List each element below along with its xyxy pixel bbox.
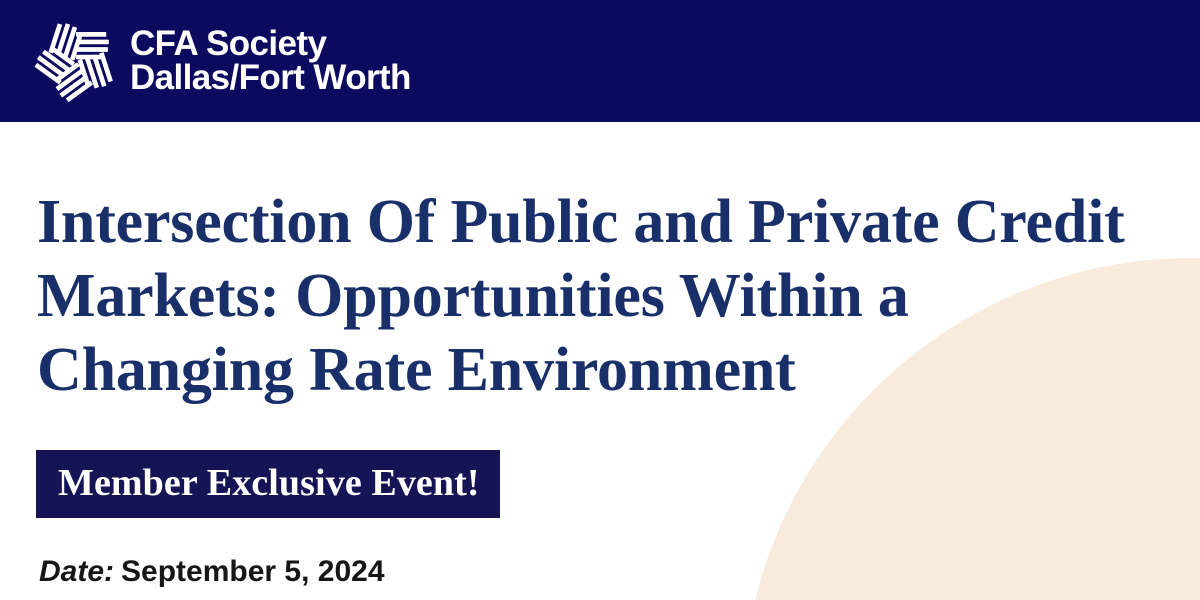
- header-band: CFA Society Dallas/Fort Worth: [0, 0, 1200, 122]
- cfa-pinwheel-icon: [34, 19, 118, 103]
- event-flyer: CFA Society Dallas/Fort Worth Intersecti…: [0, 0, 1200, 600]
- event-title: Intersection Of Public and Private Credi…: [37, 185, 1127, 407]
- organization-name: CFA Society Dallas/Fort Worth: [130, 27, 411, 95]
- member-exclusive-badge-label: Member Exclusive Event!: [58, 462, 480, 504]
- cfa-society-logo: CFA Society Dallas/Fort Worth: [34, 19, 411, 103]
- event-date-value: September 5, 2024: [121, 555, 384, 588]
- flyer-body: Intersection Of Public and Private Credi…: [0, 122, 1200, 600]
- event-date: Date:September 5, 2024: [39, 554, 385, 590]
- event-date-label: Date:: [39, 555, 114, 588]
- member-exclusive-badge: Member Exclusive Event!: [36, 450, 500, 518]
- organization-name-line2: Dallas/Fort Worth: [130, 61, 411, 95]
